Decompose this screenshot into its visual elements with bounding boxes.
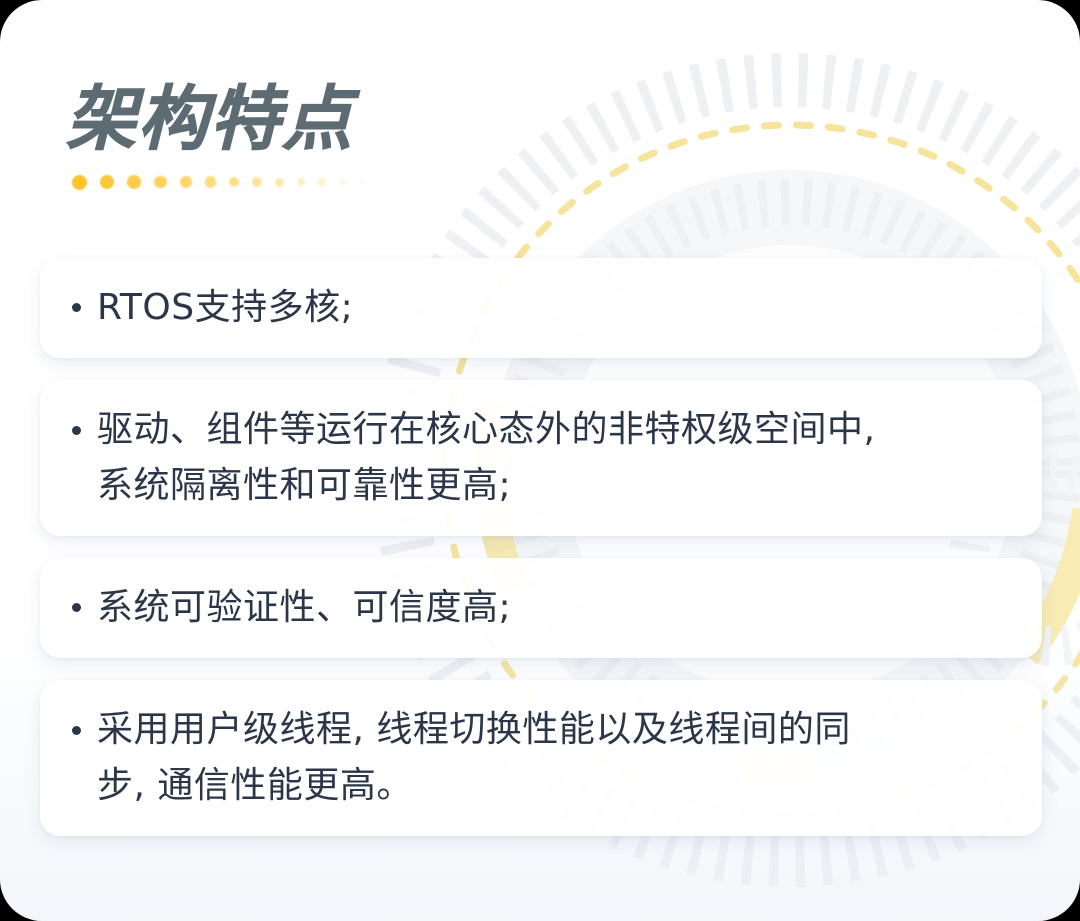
header: 架构特点	[66, 78, 766, 190]
slide-page: 架构特点 RTOS支持多核; 驱动、组件等运行在核心态外的非特权级空间中, 系统…	[0, 0, 1080, 921]
title-dot	[127, 175, 141, 189]
bullet-dot-icon	[72, 726, 81, 735]
feature-card-text: 驱动、组件等运行在核心态外的非特权级空间中, 系统隔离性和可靠性更高;	[97, 402, 1012, 514]
page-title: 架构特点	[66, 78, 766, 160]
title-dot	[229, 177, 240, 188]
title-dot	[100, 175, 114, 189]
bullet-line: 系统可验证性、可信度高;	[72, 580, 1012, 636]
title-dot-row	[72, 174, 766, 190]
title-dot	[72, 175, 87, 190]
title-dot	[359, 179, 365, 185]
feature-card[interactable]: 采用用户级线程, 线程切换性能以及线程间的同 步, 通信性能更高。	[40, 680, 1042, 836]
feature-card[interactable]: 系统可验证性、可信度高;	[40, 558, 1042, 658]
title-dot	[339, 179, 346, 186]
feature-card[interactable]: RTOS支持多核;	[40, 258, 1042, 358]
title-dot	[205, 176, 216, 187]
bullet-dot-icon	[72, 426, 81, 435]
feature-card-text: 采用用户级线程, 线程切换性能以及线程间的同 步, 通信性能更高。	[97, 702, 1012, 814]
title-dot	[297, 178, 305, 186]
bullet-line: RTOS支持多核;	[72, 280, 1012, 336]
title-dot	[318, 178, 326, 186]
title-dot	[252, 177, 262, 187]
title-dot	[180, 176, 192, 188]
feature-card-text: RTOS支持多核;	[97, 280, 1012, 336]
feature-card-text: 系统可验证性、可信度高;	[97, 580, 1012, 636]
bullet-line: 采用用户级线程, 线程切换性能以及线程间的同 步, 通信性能更高。	[72, 702, 1012, 814]
title-dot	[154, 176, 167, 189]
feature-card[interactable]: 驱动、组件等运行在核心态外的非特权级空间中, 系统隔离性和可靠性更高;	[40, 380, 1042, 536]
bullet-dot-icon	[72, 603, 81, 612]
bullet-dot-icon	[72, 303, 81, 312]
title-dot	[275, 178, 284, 187]
bullet-line: 驱动、组件等运行在核心态外的非特权级空间中, 系统隔离性和可靠性更高;	[72, 402, 1012, 514]
feature-card-list: RTOS支持多核; 驱动、组件等运行在核心态外的非特权级空间中, 系统隔离性和可…	[40, 258, 1042, 836]
